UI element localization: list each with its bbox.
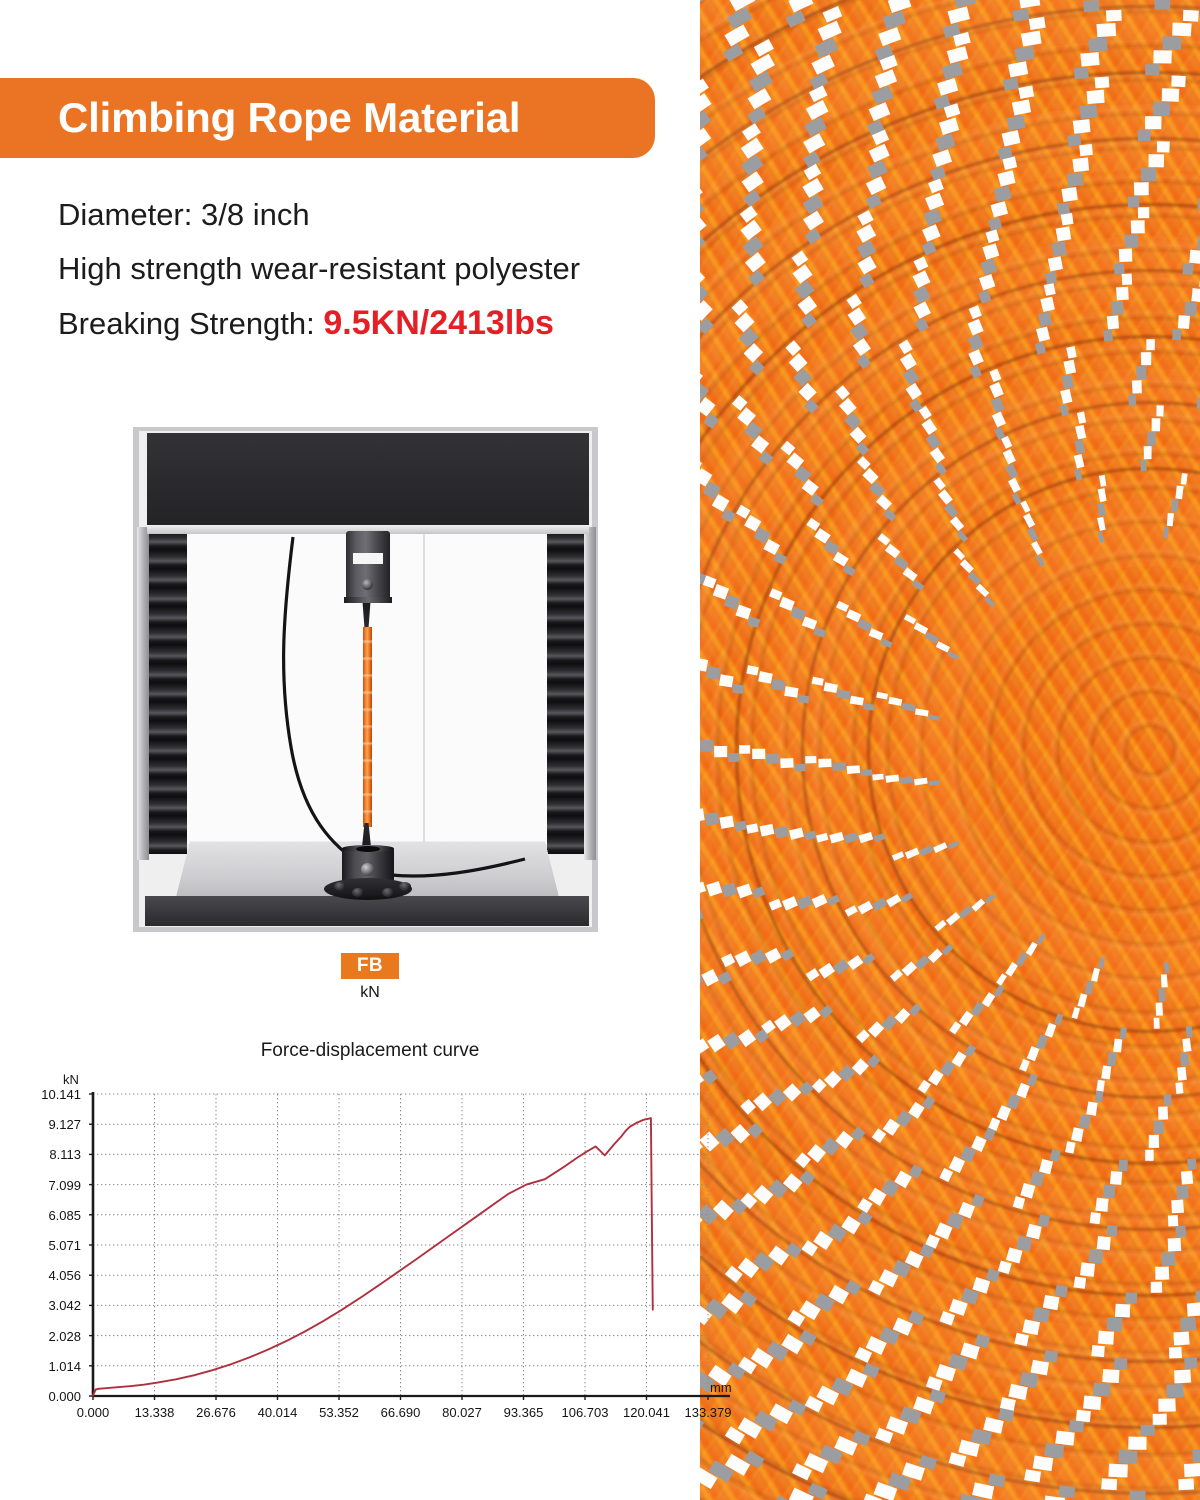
- chart-plot-area: [0, 0, 1200, 1500]
- y-axis-tick-label: 5.071: [17, 1239, 81, 1252]
- y-axis-tick-label: 7.099: [17, 1179, 81, 1192]
- x-axis-tick-label: 26.676: [181, 1406, 251, 1419]
- y-axis-tick-label: 8.113: [17, 1148, 81, 1161]
- y-axis-tick-label: 3.042: [17, 1299, 81, 1312]
- y-axis-tick-label: 4.056: [17, 1269, 81, 1282]
- x-axis-tick-label: 0.000: [58, 1406, 128, 1419]
- x-axis-tick-label: 13.338: [120, 1406, 190, 1419]
- y-axis-tick-label: 2.028: [17, 1330, 81, 1343]
- y-axis-tick-label: 10.141: [17, 1088, 81, 1101]
- x-axis-tick-label: 66.690: [366, 1406, 436, 1419]
- x-axis-tick-label: 133.379: [673, 1406, 743, 1419]
- x-axis-tick-label: 120.041: [611, 1406, 681, 1419]
- y-axis-tick-label: 1.014: [17, 1360, 81, 1373]
- x-axis-tick-label: 93.365: [488, 1406, 558, 1419]
- y-axis-tick-label: 6.085: [17, 1209, 81, 1222]
- x-axis-tick-label: 106.703: [550, 1406, 620, 1419]
- x-axis-tick-label: 40.014: [243, 1406, 313, 1419]
- y-axis-tick-label: 9.127: [17, 1118, 81, 1131]
- product-infographic: Climbing Rope Material Diameter: 3/8 inc…: [0, 0, 1200, 1500]
- x-axis-tick-label: 53.352: [304, 1406, 374, 1419]
- data-series-line: [93, 1118, 653, 1395]
- x-axis-tick-label: 80.027: [427, 1406, 497, 1419]
- y-axis-tick-label: 0.000: [17, 1390, 81, 1403]
